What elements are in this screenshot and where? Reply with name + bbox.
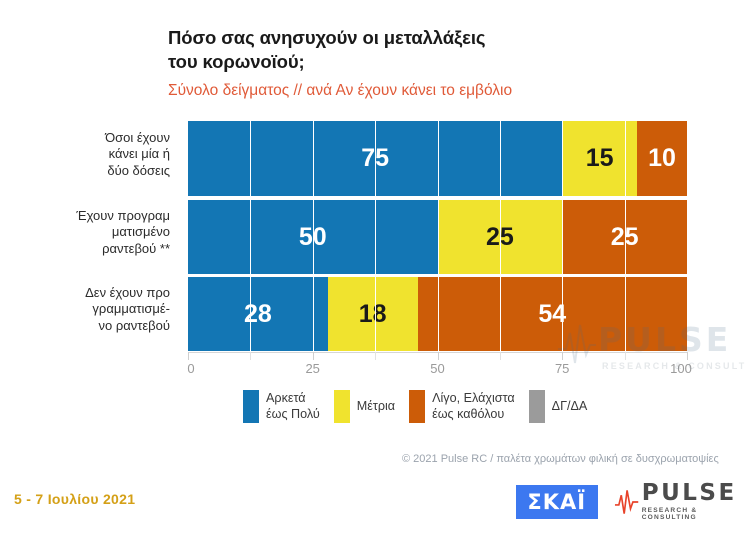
legend-swatch-blue bbox=[243, 390, 259, 423]
x-tick-label-75: 75 bbox=[555, 361, 569, 376]
page-title: Πόσο σας ανησυχούν οι μεταλλάξεις του κο… bbox=[168, 26, 638, 75]
gridline-87 bbox=[625, 119, 626, 352]
legend-item-3[interactable]: ΔΓ/ΔΑ bbox=[529, 390, 588, 423]
legend-label: Μέτρια bbox=[357, 399, 395, 414]
title-block: Πόσο σας ανησυχούν οι μεταλλάξεις του κο… bbox=[168, 26, 638, 101]
pulse-logo-text: PULSE bbox=[642, 482, 737, 505]
copyright-note: © 2021 Pulse RC / παλέτα χρωμάτων φιλική… bbox=[402, 453, 719, 465]
legend: Αρκετά έως Πολύ Μέτρια Λίγο, Ελάχιστα έω… bbox=[243, 390, 587, 423]
legend-item-2[interactable]: Λίγο, Ελάχιστα έως καθόλου bbox=[409, 390, 515, 423]
pulse-logo-text-wrap: PULSE RESEARCH & CONSULTING bbox=[642, 482, 752, 521]
x-tick-minor-62 bbox=[500, 352, 501, 360]
category-label-0: Όσοι έχουν κάνει μία ή δύο δόσεις bbox=[40, 130, 170, 179]
x-tick-50 bbox=[438, 352, 439, 360]
legend-swatch-gray bbox=[529, 390, 545, 423]
legend-item-0[interactable]: Αρκετά έως Πολύ bbox=[243, 390, 320, 423]
skai-logo: ΣΚΑΪ bbox=[516, 485, 598, 519]
plot-area: 75 15 10 50 25 25 28 18 54 PULSE RESEARC… bbox=[188, 119, 687, 352]
legend-swatch-orange bbox=[409, 390, 425, 423]
skai-logo-text: ΣΚΑΪ bbox=[527, 490, 586, 514]
waveform-icon bbox=[614, 487, 639, 517]
x-tick-minor-87 bbox=[625, 352, 626, 360]
legend-label: ΔΓ/ΔΑ bbox=[552, 399, 588, 414]
logo-bar: ΣΚΑΪ PULSE RESEARCH & CONSULTING bbox=[516, 482, 752, 522]
legend-swatch-yellow bbox=[334, 390, 350, 423]
pulse-logo-tagline: RESEARCH & CONSULTING bbox=[642, 508, 752, 521]
x-tick-label-50: 50 bbox=[430, 361, 444, 376]
gridline-75 bbox=[562, 119, 563, 352]
gridline-25 bbox=[313, 119, 314, 352]
bar-segment[interactable]: 18 bbox=[328, 277, 418, 351]
x-tick-100 bbox=[687, 352, 688, 360]
pulse-logo: PULSE RESEARCH & CONSULTING bbox=[614, 482, 752, 521]
chart-subtitle: Σύνολο δείγματος // ανά Αν έχουν κάνει τ… bbox=[168, 81, 638, 101]
gridline-50 bbox=[438, 119, 439, 352]
bar-segment[interactable]: 54 bbox=[418, 277, 687, 351]
bar-segment[interactable]: 15 bbox=[562, 121, 637, 196]
x-tick-label-25: 25 bbox=[305, 361, 319, 376]
x-tick-0 bbox=[188, 352, 189, 360]
x-tick-minor-37 bbox=[375, 352, 376, 360]
category-label-2: Δεν έχουν προ γραμματισμέ- νο ραντεβού bbox=[40, 285, 170, 334]
x-tick-75 bbox=[562, 352, 563, 360]
gridline-12 bbox=[250, 119, 251, 352]
x-tick-label-0: 0 bbox=[187, 361, 194, 376]
fieldwork-date: 5 - 7 Ιουλίου 2021 bbox=[14, 491, 135, 507]
legend-label: Λίγο, Ελάχιστα έως καθόλου bbox=[432, 391, 515, 422]
legend-item-1[interactable]: Μέτρια bbox=[334, 390, 395, 423]
gridline-37 bbox=[375, 119, 376, 352]
category-label-1: Έχουν προγραμ ματισμένο ραντεβού ** bbox=[40, 208, 170, 257]
bar-segment[interactable]: 10 bbox=[637, 121, 687, 196]
x-tick-25 bbox=[313, 352, 314, 360]
gridline-62 bbox=[500, 119, 501, 352]
legend-label: Αρκετά έως Πολύ bbox=[266, 391, 320, 422]
x-tick-minor-12 bbox=[250, 352, 251, 360]
bar-segment[interactable]: 28 bbox=[188, 277, 328, 351]
x-tick-label-100: 100 bbox=[670, 361, 692, 376]
